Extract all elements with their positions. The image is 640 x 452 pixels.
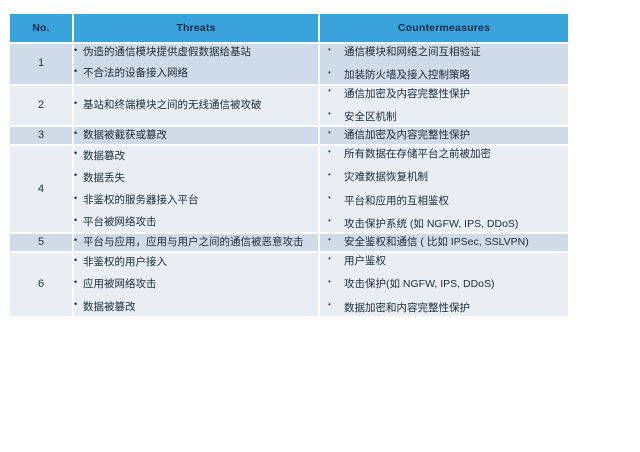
table-row: 6 非鉴权的用户接入 应用被网络攻击 数据被篡改 用户鉴权 攻击保护(如 NGF…: [10, 253, 568, 316]
row-number: 1: [10, 44, 72, 84]
countermeasure-list: 通信加密及内容完整性保护 安全区机制: [320, 86, 568, 126]
list-item: 通信模块和网络之间互相验证: [320, 44, 568, 60]
list-item: 平台和应用的互相鉴权: [320, 193, 568, 209]
list-item: 数据加密和内容完整性保护: [320, 300, 568, 316]
list-item: 应用被网络攻击: [74, 276, 318, 292]
header-row: No. Threats Countermeasures: [10, 14, 568, 42]
list-item: 安全区机制: [320, 109, 568, 125]
threat-list: 平台与应用，应用与用户之间的通信被恶意攻击: [74, 236, 318, 249]
list-item: 非鉴权的用户接入: [74, 254, 318, 270]
table-row: 5 平台与应用，应用与用户之间的通信被恶意攻击 安全鉴权和通信 ( 比如 IPS…: [10, 234, 568, 251]
page-canvas: No. Threats Countermeasures 1 伪造的通信模块提供虚…: [0, 0, 640, 452]
list-item: 通信加密及内容完整性保护: [320, 127, 568, 143]
row-number: 3: [10, 127, 72, 144]
row-threats-cell: 数据篡改 数据丢失 非鉴权的服务器接入平台 平台被网络攻击: [74, 146, 318, 232]
row-number: 5: [10, 234, 72, 251]
list-item: 数据被篡改: [74, 299, 318, 315]
list-item: 不合法的设备接入网络: [74, 65, 318, 81]
table-body: 1 伪造的通信模块提供虚假数据给基站 不合法的设备接入网络 通信模块和网络之间互…: [10, 44, 568, 316]
table-row: 2 基站和终端模块之间的无线通信被攻破 通信加密及内容完整性保护 安全区机制: [10, 86, 568, 126]
row-countermeasures-cell: 安全鉴权和通信 ( 比如 IPSec, SSLVPN): [320, 234, 568, 251]
list-item: 平台被网络攻击: [74, 214, 318, 230]
list-item: 伪造的通信模块提供虚假数据给基站: [74, 46, 318, 59]
row-number: 6: [10, 253, 72, 316]
row-threats-cell: 基站和终端模块之间的无线通信被攻破: [74, 86, 318, 126]
column-header-no: No.: [10, 14, 72, 42]
table-row: 4 数据篡改 数据丢失 非鉴权的服务器接入平台 平台被网络攻击 所有数据在存储平…: [10, 146, 568, 232]
row-countermeasures-cell: 通信加密及内容完整性保护 安全区机制: [320, 86, 568, 126]
threat-list: 数据篡改 数据丢失 非鉴权的服务器接入平台 平台被网络攻击: [74, 148, 318, 231]
list-item: 加装防火墙及接入控制策略: [320, 67, 568, 83]
row-countermeasures-cell: 通信加密及内容完整性保护: [320, 127, 568, 144]
threat-list: 非鉴权的用户接入 应用被网络攻击 数据被篡改: [74, 254, 318, 315]
row-countermeasures-cell: 通信模块和网络之间互相验证 加装防火墙及接入控制策略: [320, 44, 568, 84]
row-threats-cell: 平台与应用，应用与用户之间的通信被恶意攻击: [74, 234, 318, 251]
list-item: 基站和终端模块之间的无线通信被攻破: [74, 99, 318, 112]
row-number: 2: [10, 86, 72, 126]
list-item: 数据被截获或篡改: [74, 127, 318, 143]
table-header: No. Threats Countermeasures: [10, 14, 568, 42]
row-number: 4: [10, 146, 72, 232]
list-item: 用户鉴权: [320, 253, 568, 269]
list-item: 安全鉴权和通信 ( 比如 IPSec, SSLVPN): [320, 236, 568, 249]
list-item: 所有数据在存储平台之前被加密: [320, 146, 568, 162]
countermeasure-list: 通信加密及内容完整性保护: [320, 127, 568, 143]
column-header-countermeasures: Countermeasures: [320, 14, 568, 42]
threats-countermeasures-table: No. Threats Countermeasures 1 伪造的通信模块提供虚…: [8, 12, 570, 318]
list-item: 平台与应用，应用与用户之间的通信被恶意攻击: [74, 236, 318, 249]
list-item: 数据丢失: [74, 170, 318, 186]
threat-list: 数据被截获或篡改: [74, 127, 318, 143]
list-item: 攻击保护系统 (如 NGFW, IPS, DDoS): [320, 216, 568, 232]
threat-list: 伪造的通信模块提供虚假数据给基站 不合法的设备接入网络: [74, 46, 318, 82]
table-row: 3 数据被截获或篡改 通信加密及内容完整性保护: [10, 127, 568, 144]
row-countermeasures-cell: 用户鉴权 攻击保护(如 NGFW, IPS, DDoS) 数据加密和内容完整性保…: [320, 253, 568, 316]
table-row: 1 伪造的通信模块提供虚假数据给基站 不合法的设备接入网络 通信模块和网络之间互…: [10, 44, 568, 84]
countermeasure-list: 安全鉴权和通信 ( 比如 IPSec, SSLVPN): [320, 236, 568, 249]
countermeasure-list: 用户鉴权 攻击保护(如 NGFW, IPS, DDoS) 数据加密和内容完整性保…: [320, 253, 568, 316]
column-header-threats: Threats: [74, 14, 318, 42]
countermeasure-list: 通信模块和网络之间互相验证 加装防火墙及接入控制策略: [320, 44, 568, 84]
row-countermeasures-cell: 所有数据在存储平台之前被加密 灾难数据恢复机制 平台和应用的互相鉴权 攻击保护系…: [320, 146, 568, 232]
list-item: 数据篡改: [74, 148, 318, 164]
row-threats-cell: 数据被截获或篡改: [74, 127, 318, 144]
threat-list: 基站和终端模块之间的无线通信被攻破: [74, 99, 318, 112]
countermeasure-list: 所有数据在存储平台之前被加密 灾难数据恢复机制 平台和应用的互相鉴权 攻击保护系…: [320, 146, 568, 232]
list-item: 通信加密及内容完整性保护: [320, 86, 568, 102]
list-item: 攻击保护(如 NGFW, IPS, DDoS): [320, 276, 568, 292]
list-item: 灾难数据恢复机制: [320, 169, 568, 185]
row-threats-cell: 伪造的通信模块提供虚假数据给基站 不合法的设备接入网络: [74, 44, 318, 84]
list-item: 非鉴权的服务器接入平台: [74, 192, 318, 208]
row-threats-cell: 非鉴权的用户接入 应用被网络攻击 数据被篡改: [74, 253, 318, 316]
